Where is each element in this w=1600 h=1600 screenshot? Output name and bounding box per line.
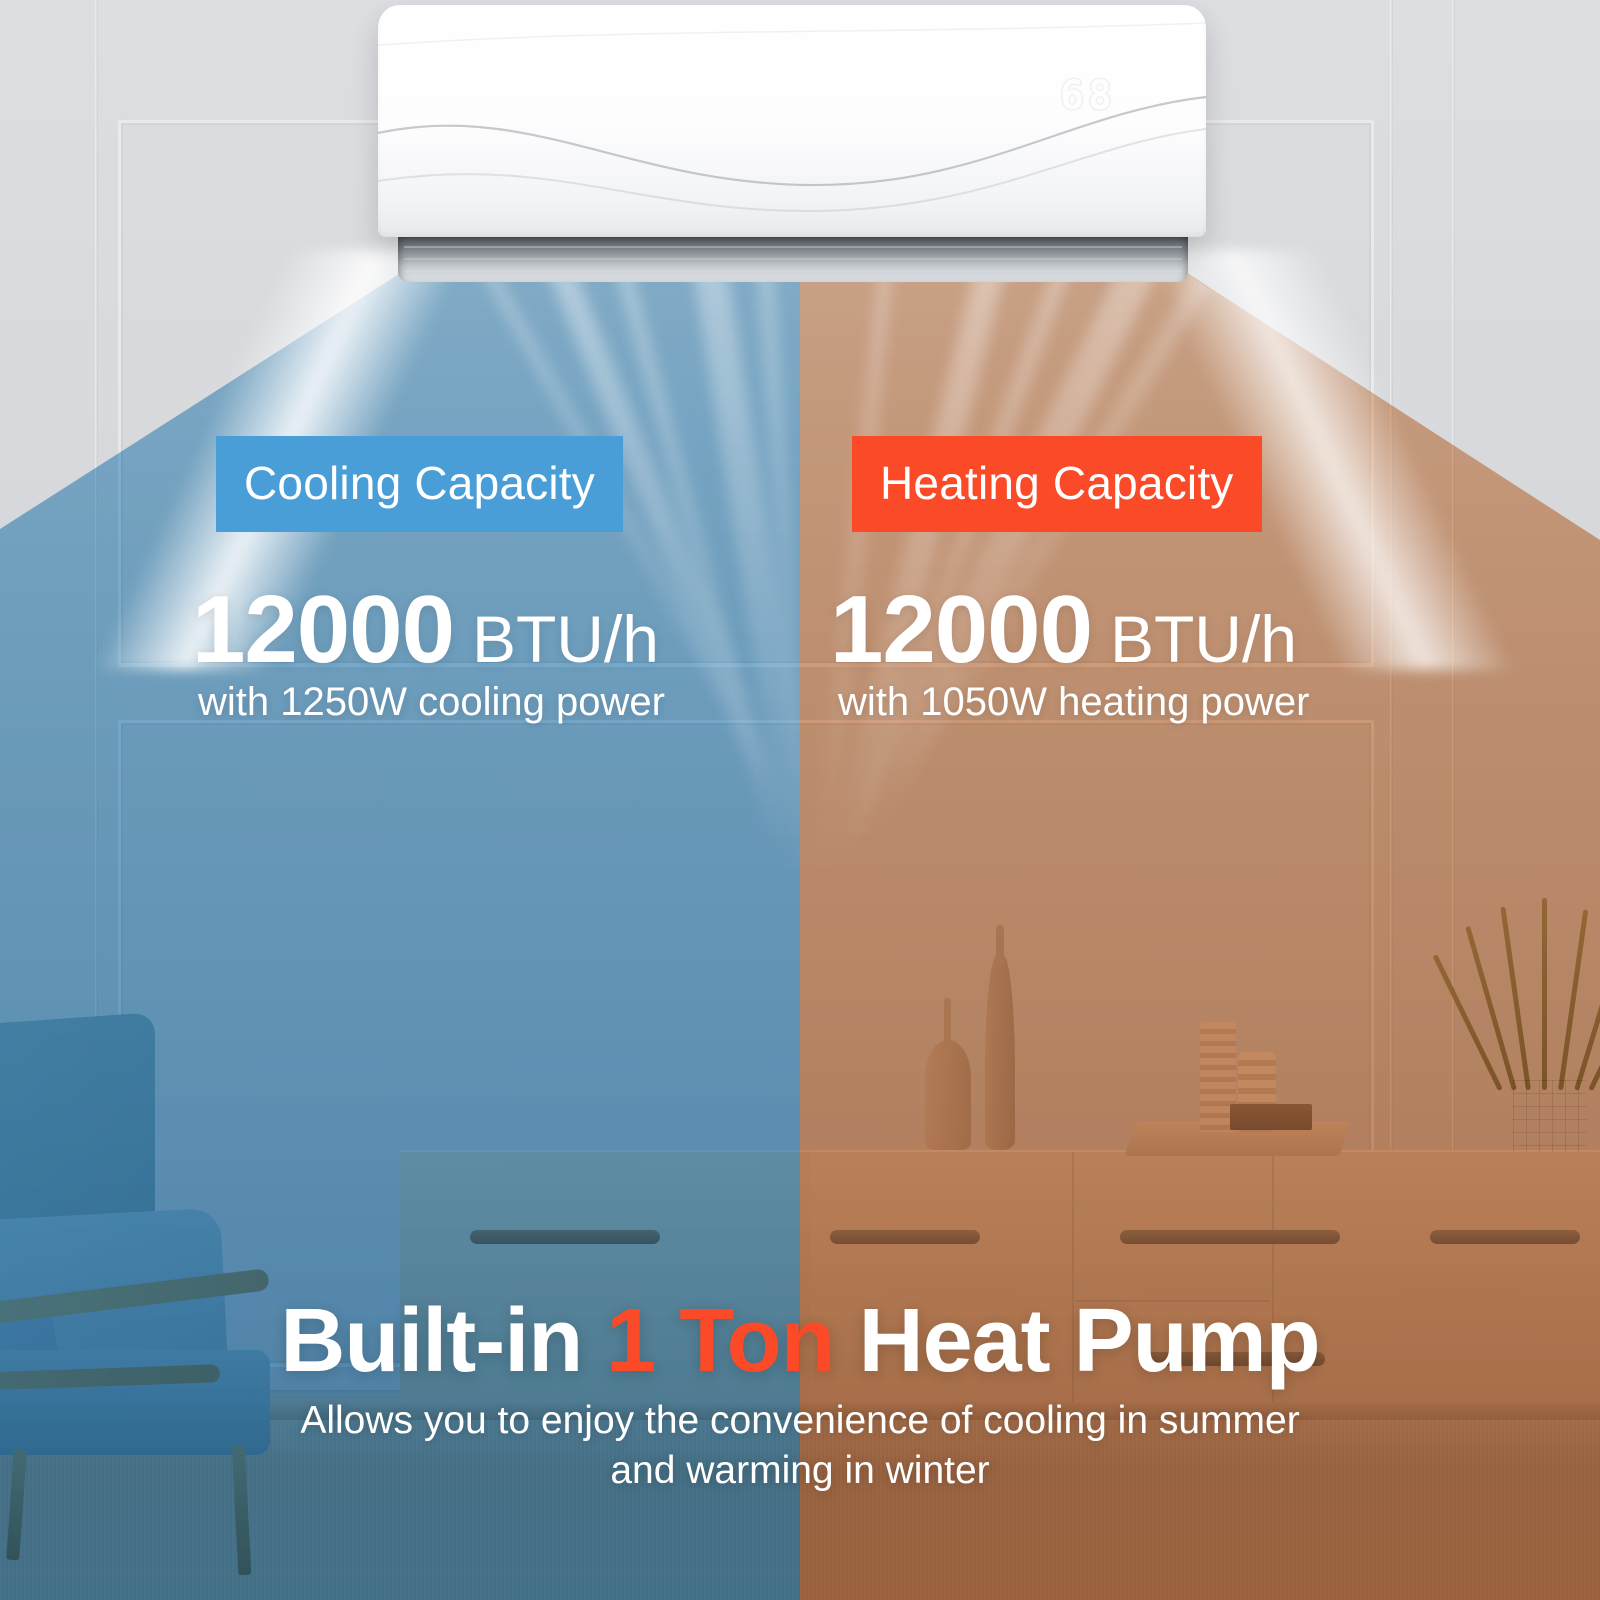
headline-suffix: Heat Pump [835, 1291, 1320, 1391]
cooling-capacity-value-row: 12000 BTU/h [192, 582, 659, 678]
air-conditioner-unit: 68 [378, 5, 1206, 237]
heating-capacity-value-row: 12000 BTU/h [830, 582, 1297, 678]
headline-prefix: Built-in [280, 1291, 606, 1391]
ac-air-vent [398, 230, 1188, 282]
footer-description-line1: Allows you to enjoy the convenience of c… [0, 1396, 1600, 1446]
footer-description-line2: and warming in winter [0, 1446, 1600, 1496]
footer-headline: Built-in 1 Ton Heat Pump [0, 1296, 1600, 1386]
product-feature-graphic: 68 Cooling Capacity Heating Capacity 120… [0, 0, 1600, 1600]
headline-highlight: 1 Ton [606, 1291, 834, 1391]
cooling-capacity-unit: BTU/h [472, 606, 659, 672]
footer-description: Allows you to enjoy the convenience of c… [0, 1396, 1600, 1496]
heating-capacity-number: 12000 [830, 582, 1092, 678]
thermostat-display: 68 [1060, 73, 1116, 119]
cooling-capacity-number: 12000 [192, 582, 454, 678]
heating-power-note: with 1050W heating power [838, 682, 1309, 722]
heating-capacity-badge: Heating Capacity [852, 436, 1262, 532]
cooling-capacity-badge: Cooling Capacity [216, 436, 623, 532]
cooling-power-note: with 1250W cooling power [198, 682, 665, 722]
heating-capacity-unit: BTU/h [1110, 606, 1297, 672]
ac-body-curves [378, 5, 1206, 237]
